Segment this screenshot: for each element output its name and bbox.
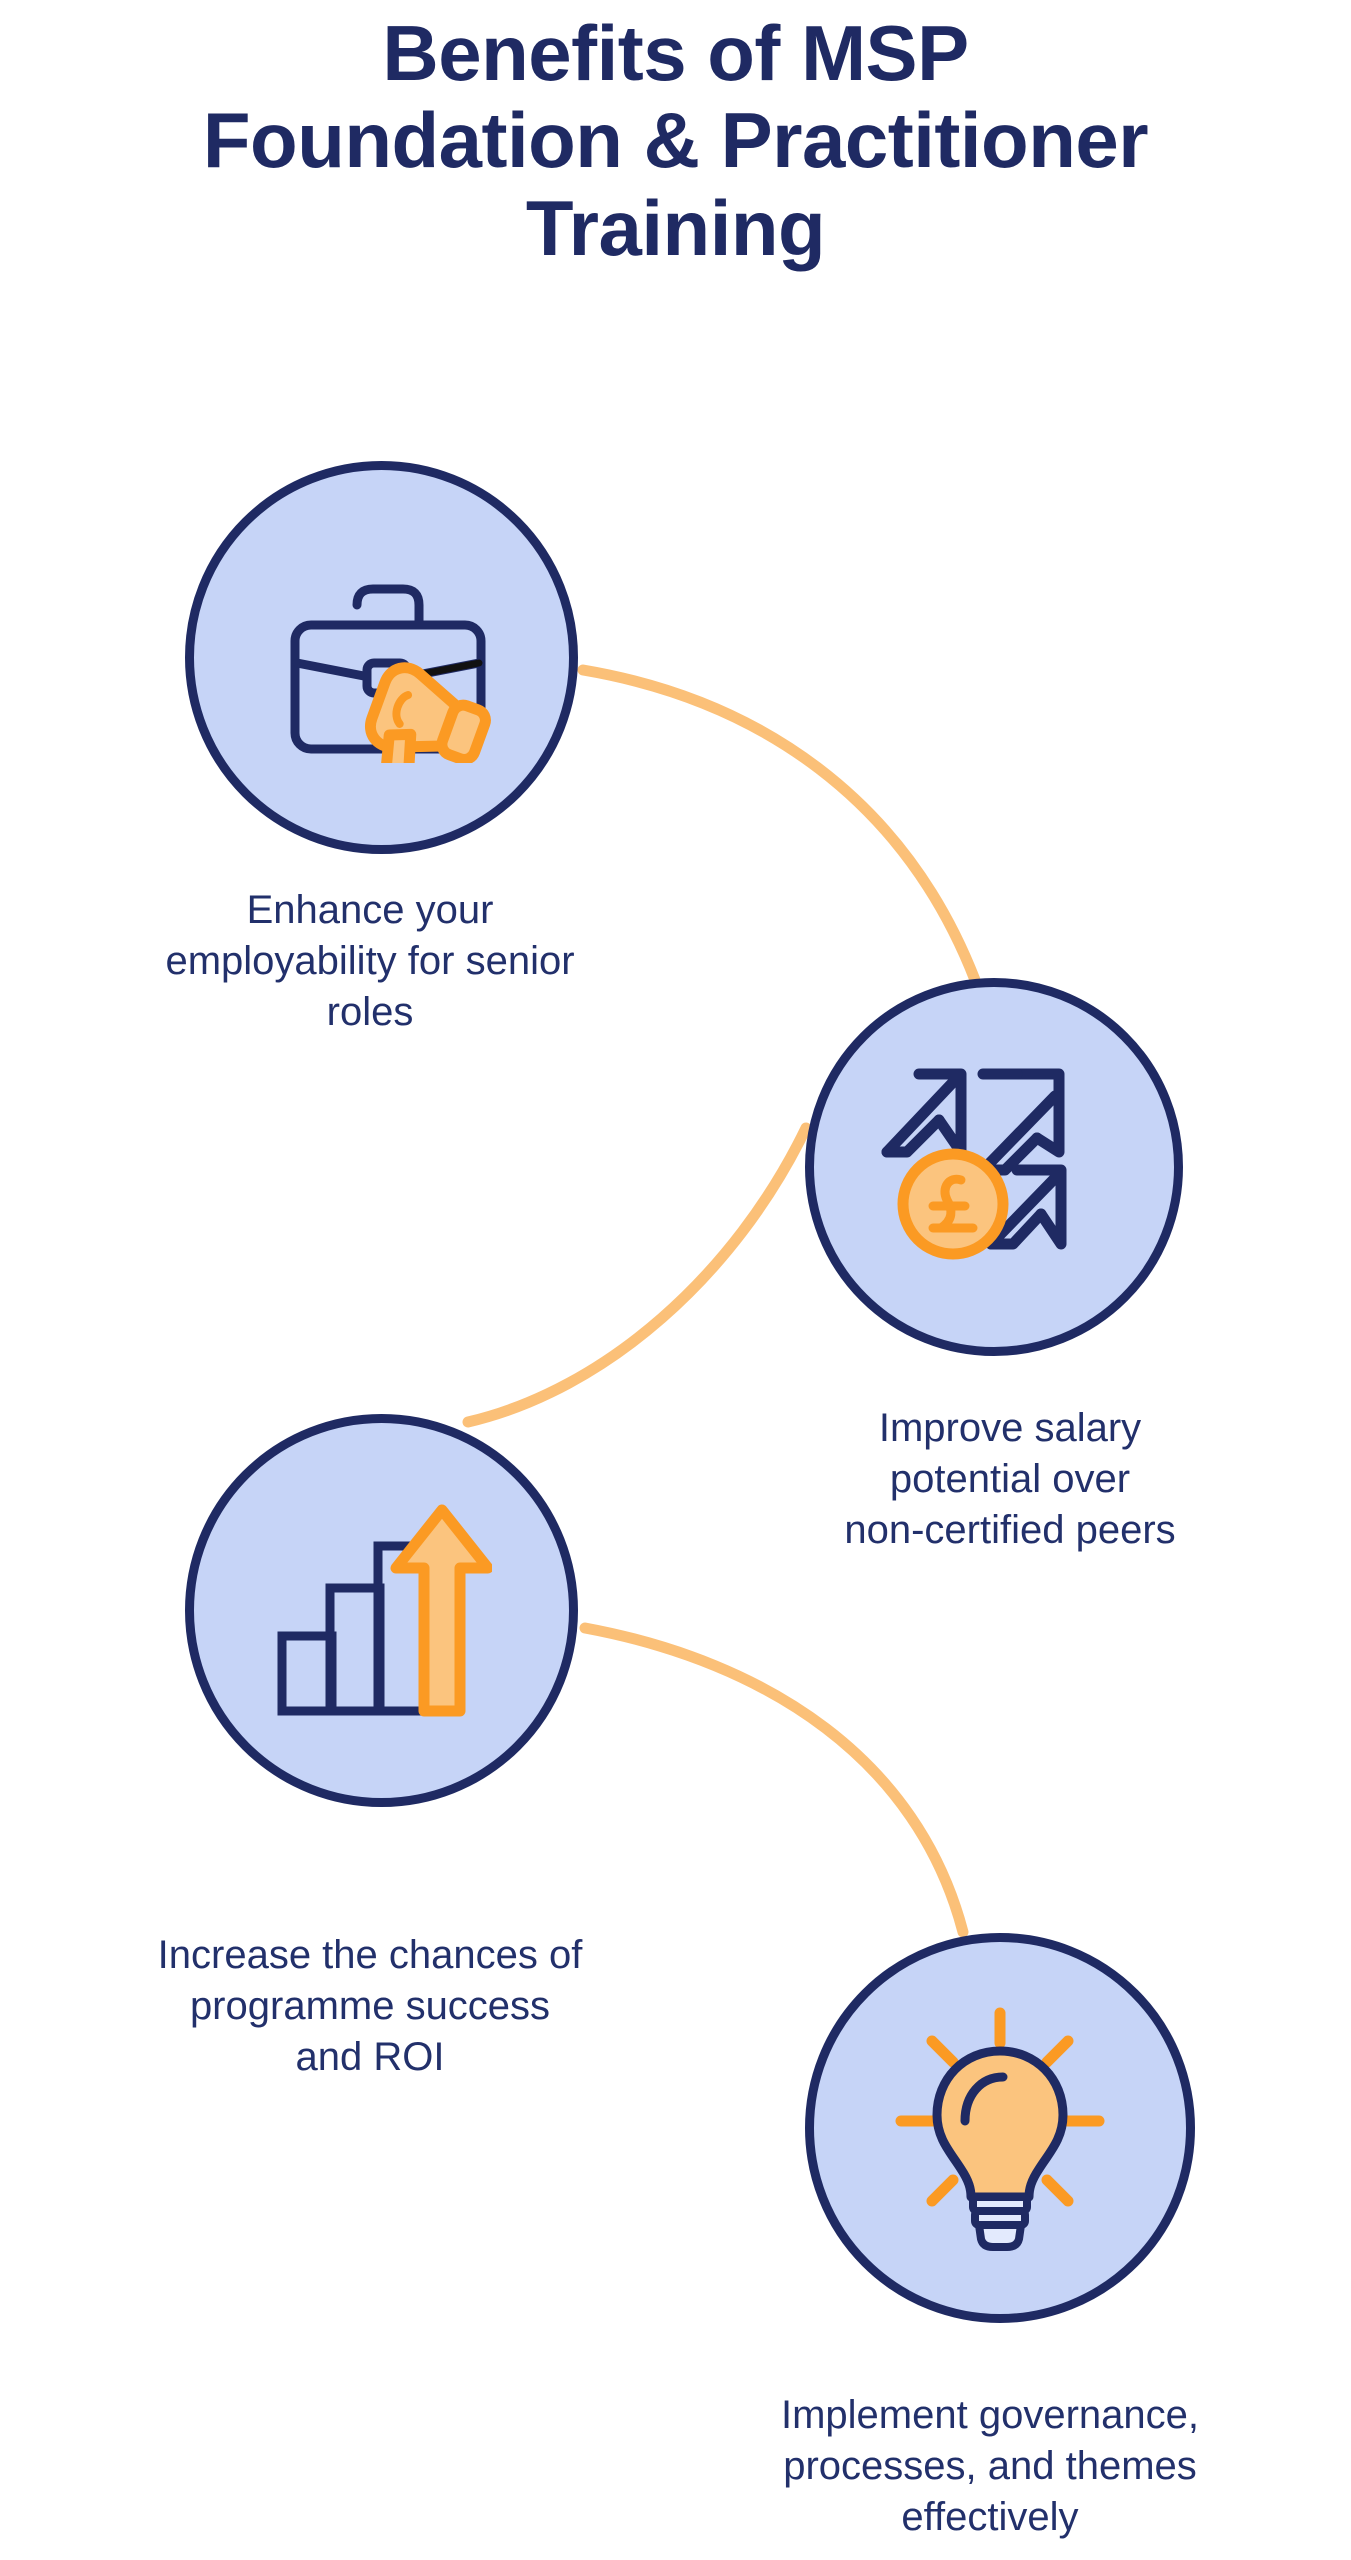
- title-line-1: Benefits of MSP: [40, 10, 1311, 97]
- briefcase-megaphone-icon: [257, 553, 507, 763]
- connector-curve-2: [468, 1128, 806, 1422]
- benefit-caption-employability: Enhance your employability for senior ro…: [40, 885, 700, 1039]
- benefit-caption-governance: Implement governance, processes, and the…: [640, 2390, 1340, 2544]
- caption-line: effectively: [640, 2492, 1340, 2543]
- lightbulb-icon: [885, 2003, 1115, 2253]
- bar-chart-up-arrow-icon: [272, 1496, 492, 1726]
- caption-line: employability for senior: [40, 936, 700, 987]
- caption-line: Increase the chances of: [40, 1930, 700, 1981]
- benefit-icon-circle-programme-success[interactable]: [185, 1414, 578, 1807]
- benefit-icon-circle-governance[interactable]: [805, 1933, 1195, 2323]
- caption-line: Improve salary: [700, 1403, 1320, 1454]
- infographic-root: Benefits of MSP Foundation & Practitione…: [0, 0, 1351, 2560]
- title-line-2: Foundation & Practitioner: [40, 97, 1311, 184]
- caption-line: programme success: [40, 1981, 700, 2032]
- benefit-caption-programme-success: Increase the chances of programme succes…: [40, 1930, 700, 2084]
- page-title: Benefits of MSP Foundation & Practitione…: [0, 10, 1351, 272]
- caption-line: Implement governance,: [640, 2390, 1340, 2441]
- caption-line: Enhance your: [40, 885, 700, 936]
- benefit-caption-salary: Improve salary potential over non-certif…: [700, 1403, 1320, 1557]
- caption-line: potential over: [700, 1454, 1320, 1505]
- caption-line: non-certified peers: [700, 1505, 1320, 1556]
- caption-line: and ROI: [40, 2032, 700, 2083]
- benefit-icon-circle-employability[interactable]: [185, 461, 578, 854]
- connector-curve-3: [585, 1628, 963, 1932]
- benefit-icon-circle-salary[interactable]: [805, 978, 1183, 1356]
- growth-arrows-pound-coin-icon: [879, 1052, 1109, 1282]
- caption-line: processes, and themes: [640, 2441, 1340, 2492]
- caption-line: roles: [40, 987, 700, 1038]
- title-line-3: Training: [40, 185, 1311, 272]
